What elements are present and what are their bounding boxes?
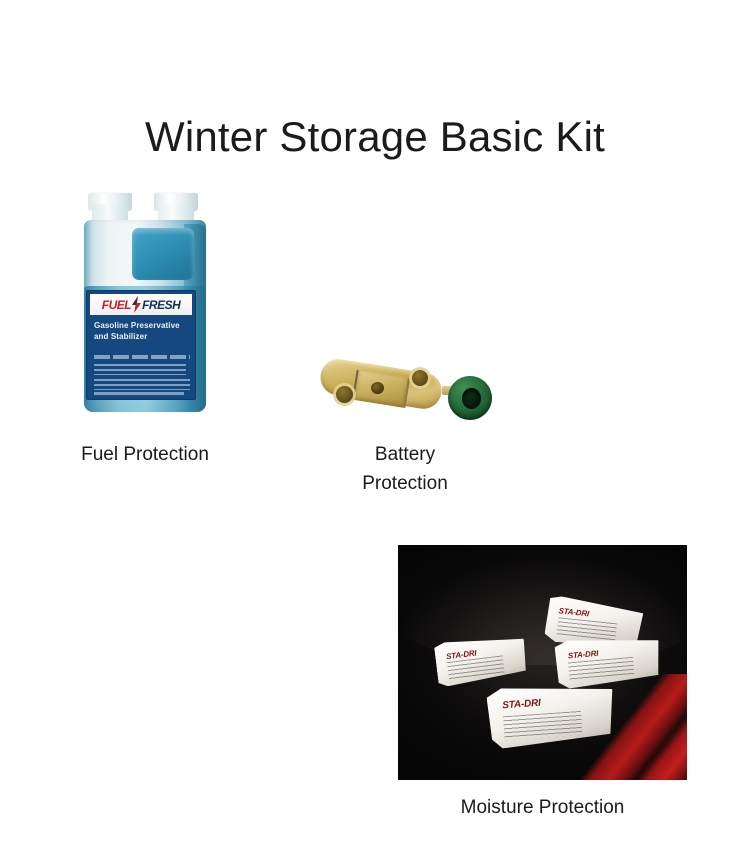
packet-brand-label: STA-DRI (502, 698, 541, 712)
lightning-bolt-icon (131, 296, 142, 313)
moisture-protection-caption: Moisture Protection (400, 793, 685, 822)
bottle-inner-reservoir (132, 228, 194, 280)
packet-brand-label: STA-DRI (567, 648, 598, 660)
moisture-protection-image: STA-DRI STA-DRI STA-DRI STA-DRI (398, 545, 687, 780)
terminal-clamp-hole (371, 382, 384, 394)
page-title: Winter Storage Basic Kit (0, 114, 750, 160)
bottle-label: FUEL FRESH Gasoline Preservative and Sta… (86, 290, 196, 400)
terminal-bolt-hole-left (336, 386, 353, 403)
bottle-label-footer-line (94, 392, 184, 395)
bottle-label-tagline-line (94, 355, 190, 359)
fuel-protection-caption: Fuel Protection (40, 440, 250, 469)
bottle-label-subtitle: Gasoline Preservative and Stabilizer (94, 320, 190, 342)
battery-protection-image (316, 352, 496, 436)
green-terminal-nut-bore (462, 388, 481, 409)
bottle-label-fineprint-block-1 (94, 364, 186, 375)
packet-fineprint (556, 617, 617, 642)
packet-fineprint (568, 657, 634, 682)
battery-protection-caption: Battery Protection (320, 440, 490, 499)
packet-fineprint (503, 710, 583, 739)
brand-banner: FUEL FRESH (90, 294, 192, 315)
brand-name-primary: FUEL (102, 299, 131, 311)
terminal-bolt-hole-right (412, 370, 428, 386)
brand-name-secondary: FRESH (142, 299, 180, 311)
page-root: { "page": { "title": "Winter Storage Bas… (0, 0, 750, 863)
bottle-label-fineprint-block-2 (94, 379, 190, 390)
fuel-protection-image: FUEL FRESH Gasoline Preservative and Sta… (74, 190, 220, 420)
packet-brand-label: STA-DRI (558, 606, 589, 618)
